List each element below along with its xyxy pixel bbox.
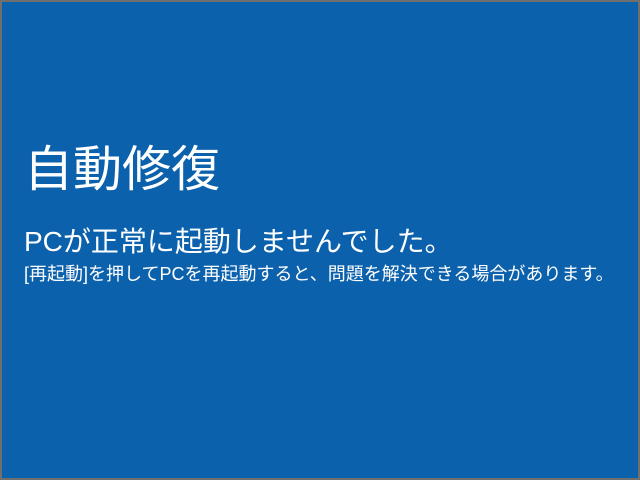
message-block: 自動修復 PCが正常に起動しませんでした。 [再起動]を押してPCを再起動すると… <box>24 142 628 286</box>
instruction-text: [再起動]を押してPCを再起動すると、問題を解決できる場合があります。 <box>24 258 628 286</box>
status-headline: PCが正常に起動しませんでした。 <box>24 198 628 258</box>
automatic-repair-screen: 自動修復 PCが正常に起動しませんでした。 [再起動]を押してPCを再起動すると… <box>0 0 640 480</box>
page-title: 自動修復 <box>24 142 628 198</box>
